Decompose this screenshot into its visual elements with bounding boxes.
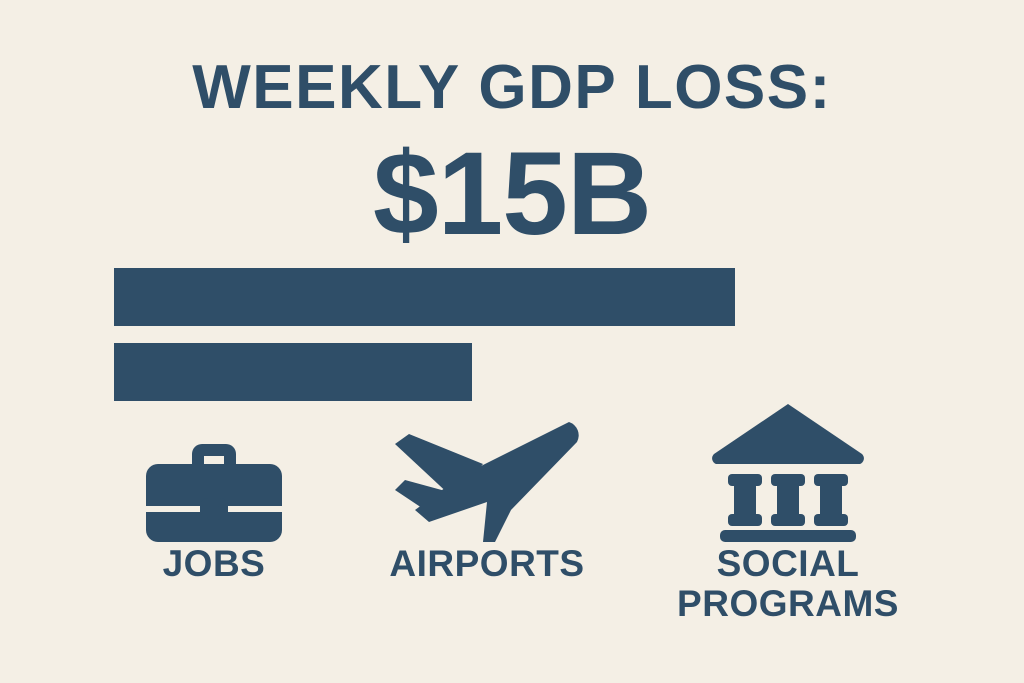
headline-amount: $15B <box>0 135 1024 253</box>
label-line: SOCIAL <box>658 544 918 584</box>
impact-item-label-social-programs: SOCIAL PROGRAMS <box>658 544 918 624</box>
briefcase-icon <box>84 392 344 542</box>
impact-icon-row: JOBS AIRPORTS <box>0 392 1024 632</box>
impact-item-social-programs: SOCIAL PROGRAMS <box>658 392 918 632</box>
impact-item-airports: AIRPORTS <box>357 392 617 632</box>
airplane-icon <box>357 392 617 542</box>
gdp-loss-infographic: WEEKLY GDP LOSS: $15B JO <box>0 0 1024 683</box>
impact-item-label-jobs: JOBS <box>84 544 344 584</box>
label-line: AIRPORTS <box>357 544 617 584</box>
label-line: JOBS <box>84 544 344 584</box>
bank-building-icon <box>658 392 918 542</box>
impact-item-jobs: JOBS <box>84 392 344 632</box>
bar-chart <box>114 268 735 401</box>
label-line: PROGRAMS <box>658 584 918 624</box>
impact-item-label-airports: AIRPORTS <box>357 544 617 584</box>
page-title: WEEKLY GDP LOSS: <box>0 57 1024 119</box>
bar-primary <box>114 268 735 326</box>
